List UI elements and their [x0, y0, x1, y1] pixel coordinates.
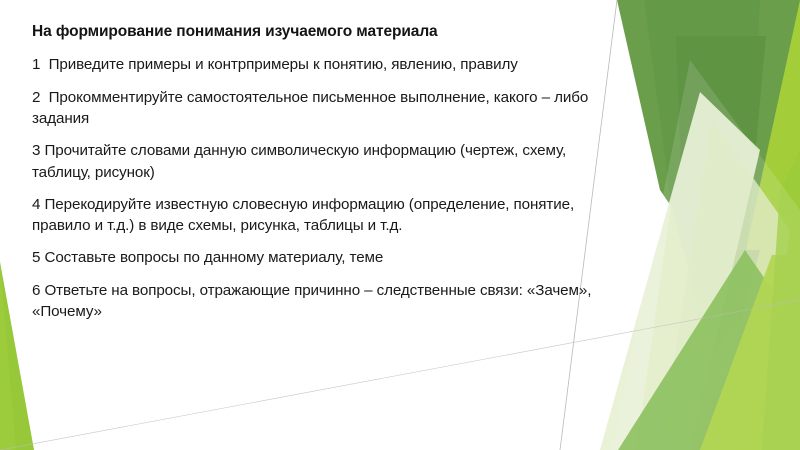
pale-green-sheet-2 [660, 120, 790, 450]
right-bright-green-field [636, 0, 800, 450]
bright-green-edge [762, 150, 800, 450]
mid-green-sheet [618, 250, 800, 450]
dark-green-blade-core [644, 0, 760, 310]
page-title: На формирование понимания изучаемого мат… [32, 22, 610, 42]
list-item-3: 3 Прочитайте словами данную символическу… [32, 140, 610, 183]
pale-green-sheet [600, 92, 760, 450]
light-wash-overlay [612, 60, 800, 450]
hairline-shallow-diagonal [0, 300, 800, 450]
list-item-1: 1 Приведите примеры и контрпримеры к пон… [32, 54, 610, 75]
left-green-wedge-inner [0, 262, 34, 450]
deep-green-v [676, 36, 766, 345]
deep-green-v-tip [712, 250, 760, 352]
bright-green-lower-overlay [700, 255, 800, 450]
list-item-5: 5 Составьте вопросы по данному материалу… [32, 247, 610, 268]
mid-green-sheet-light [735, 300, 800, 450]
list-item-6: 6 Ответьте на вопросы, отражающие причин… [32, 280, 610, 323]
slide-canvas: На формирование понимания изучаемого мат… [0, 0, 800, 450]
left-green-wedge [0, 262, 34, 450]
list-item-2: 2 Прокомментируйте самостоятельное письм… [32, 87, 610, 130]
list-item-4: 4 Перекодируйте известную словесную инфо… [32, 194, 610, 237]
dark-green-blade [617, 0, 800, 300]
slide-content: На формирование понимания изучаемого мат… [32, 22, 610, 322]
